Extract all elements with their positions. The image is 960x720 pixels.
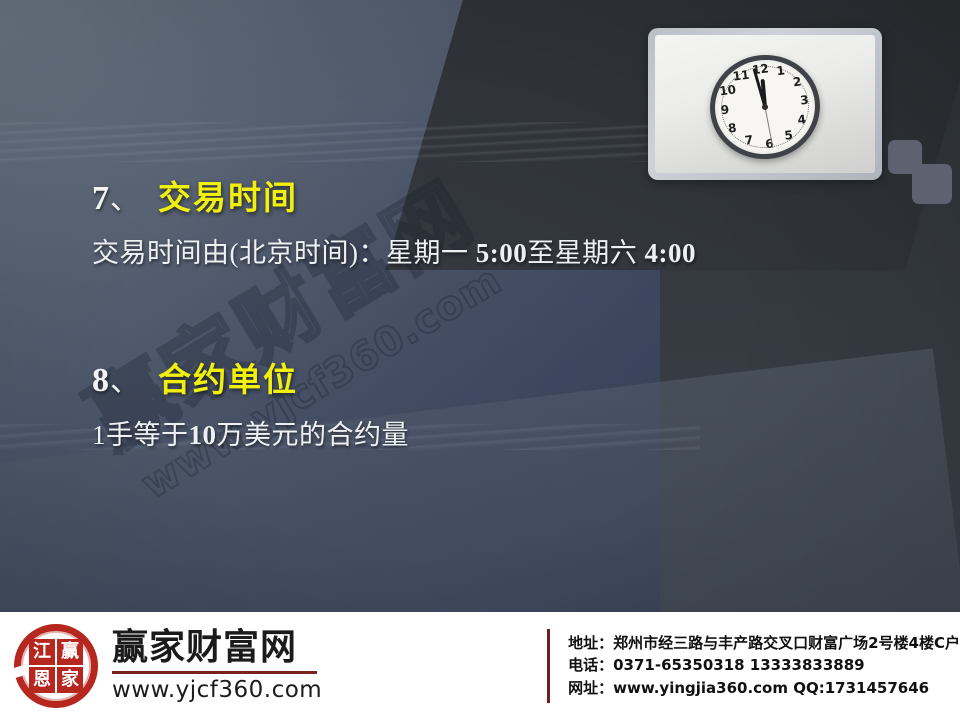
- section-punctuation: 、: [110, 365, 140, 398]
- seal-char-3: 恩: [29, 667, 55, 693]
- brand-url[interactable]: www.yjcf360.com: [112, 677, 322, 703]
- contact-label-address: 地址：: [568, 634, 613, 652]
- section-body: 交易时间由(北京时间)：星期一 5:00至星期六 4:00: [92, 231, 696, 270]
- brand-name: 赢家财富网: [112, 629, 322, 667]
- body-bold-amount: 10: [189, 420, 217, 450]
- presentation-slide: 12 1 2 3 4 5 6 7 8 9 10 11 赢家财富网 www.yjc…: [0, 0, 960, 720]
- body-bold-start-time: 5:00: [476, 238, 528, 268]
- company-seal-logo: 江 赢 恩 家: [12, 622, 100, 710]
- seal-char-2: 赢: [57, 639, 83, 665]
- section-heading: 8 、 合约单位: [92, 362, 409, 399]
- brand-block: 江 赢 恩 家 赢家财富网 www.yjcf360.com: [0, 622, 539, 710]
- slide-content: 7 、 交易时间 交易时间由(北京时间)：星期一 5:00至星期六 4:00 8…: [0, 0, 960, 612]
- section-punctuation: 、: [110, 183, 140, 216]
- body-middle: 至星期六: [527, 238, 644, 268]
- body-prefix: 1手等于: [92, 420, 189, 450]
- section-number: 8: [92, 362, 109, 399]
- body-bold-end-time: 4:00: [644, 238, 696, 268]
- seal-char-1: 江: [29, 639, 55, 665]
- section-title: 交易时间: [158, 180, 298, 216]
- contact-row-phone: 电话：0371-65350318 13333833889: [568, 657, 960, 674]
- section-number: 7: [92, 180, 109, 217]
- seal-character-grid: 江 赢 恩 家: [29, 639, 83, 693]
- section-title: 合约单位: [158, 362, 298, 398]
- contact-value-address: 郑州市经三路与丰产路交叉口财富广场2号楼4楼C户: [613, 634, 960, 652]
- body-prefix: 交易时间由(北京时间)：星期一: [92, 238, 476, 268]
- section-body: 1手等于10万美元的合约量: [92, 413, 409, 452]
- contact-row-address: 地址：郑州市经三路与丰产路交叉口财富广场2号楼4楼C户: [568, 635, 960, 652]
- contact-label-website: 网址：: [568, 679, 613, 697]
- contact-value-phone: 0371-65350318 13333833889: [613, 656, 865, 674]
- footer-bar: 江 赢 恩 家 赢家财富网 www.yjcf360.com 地址：郑州市经三路与…: [0, 612, 960, 720]
- contact-info-block: 地址：郑州市经三路与丰产路交叉口财富广场2号楼4楼C户 电话：0371-6535…: [550, 635, 960, 697]
- contact-value-website[interactable]: www.yingjia360.com QQ:1731457646: [613, 679, 929, 697]
- section-trading-hours: 7 、 交易时间 交易时间由(北京时间)：星期一 5:00至星期六 4:00: [92, 180, 696, 270]
- seal-char-4: 家: [57, 667, 83, 693]
- contact-row-website: 网址：www.yingjia360.com QQ:1731457646: [568, 680, 960, 697]
- brand-divider-rule: [112, 671, 317, 674]
- contact-label-phone: 电话：: [568, 656, 613, 674]
- body-middle: 万美元的合约量: [217, 420, 410, 450]
- section-heading: 7 、 交易时间: [92, 180, 696, 217]
- brand-text-block: 赢家财富网 www.yjcf360.com: [112, 629, 322, 703]
- section-contract-unit: 8 、 合约单位 1手等于10万美元的合约量: [92, 362, 409, 452]
